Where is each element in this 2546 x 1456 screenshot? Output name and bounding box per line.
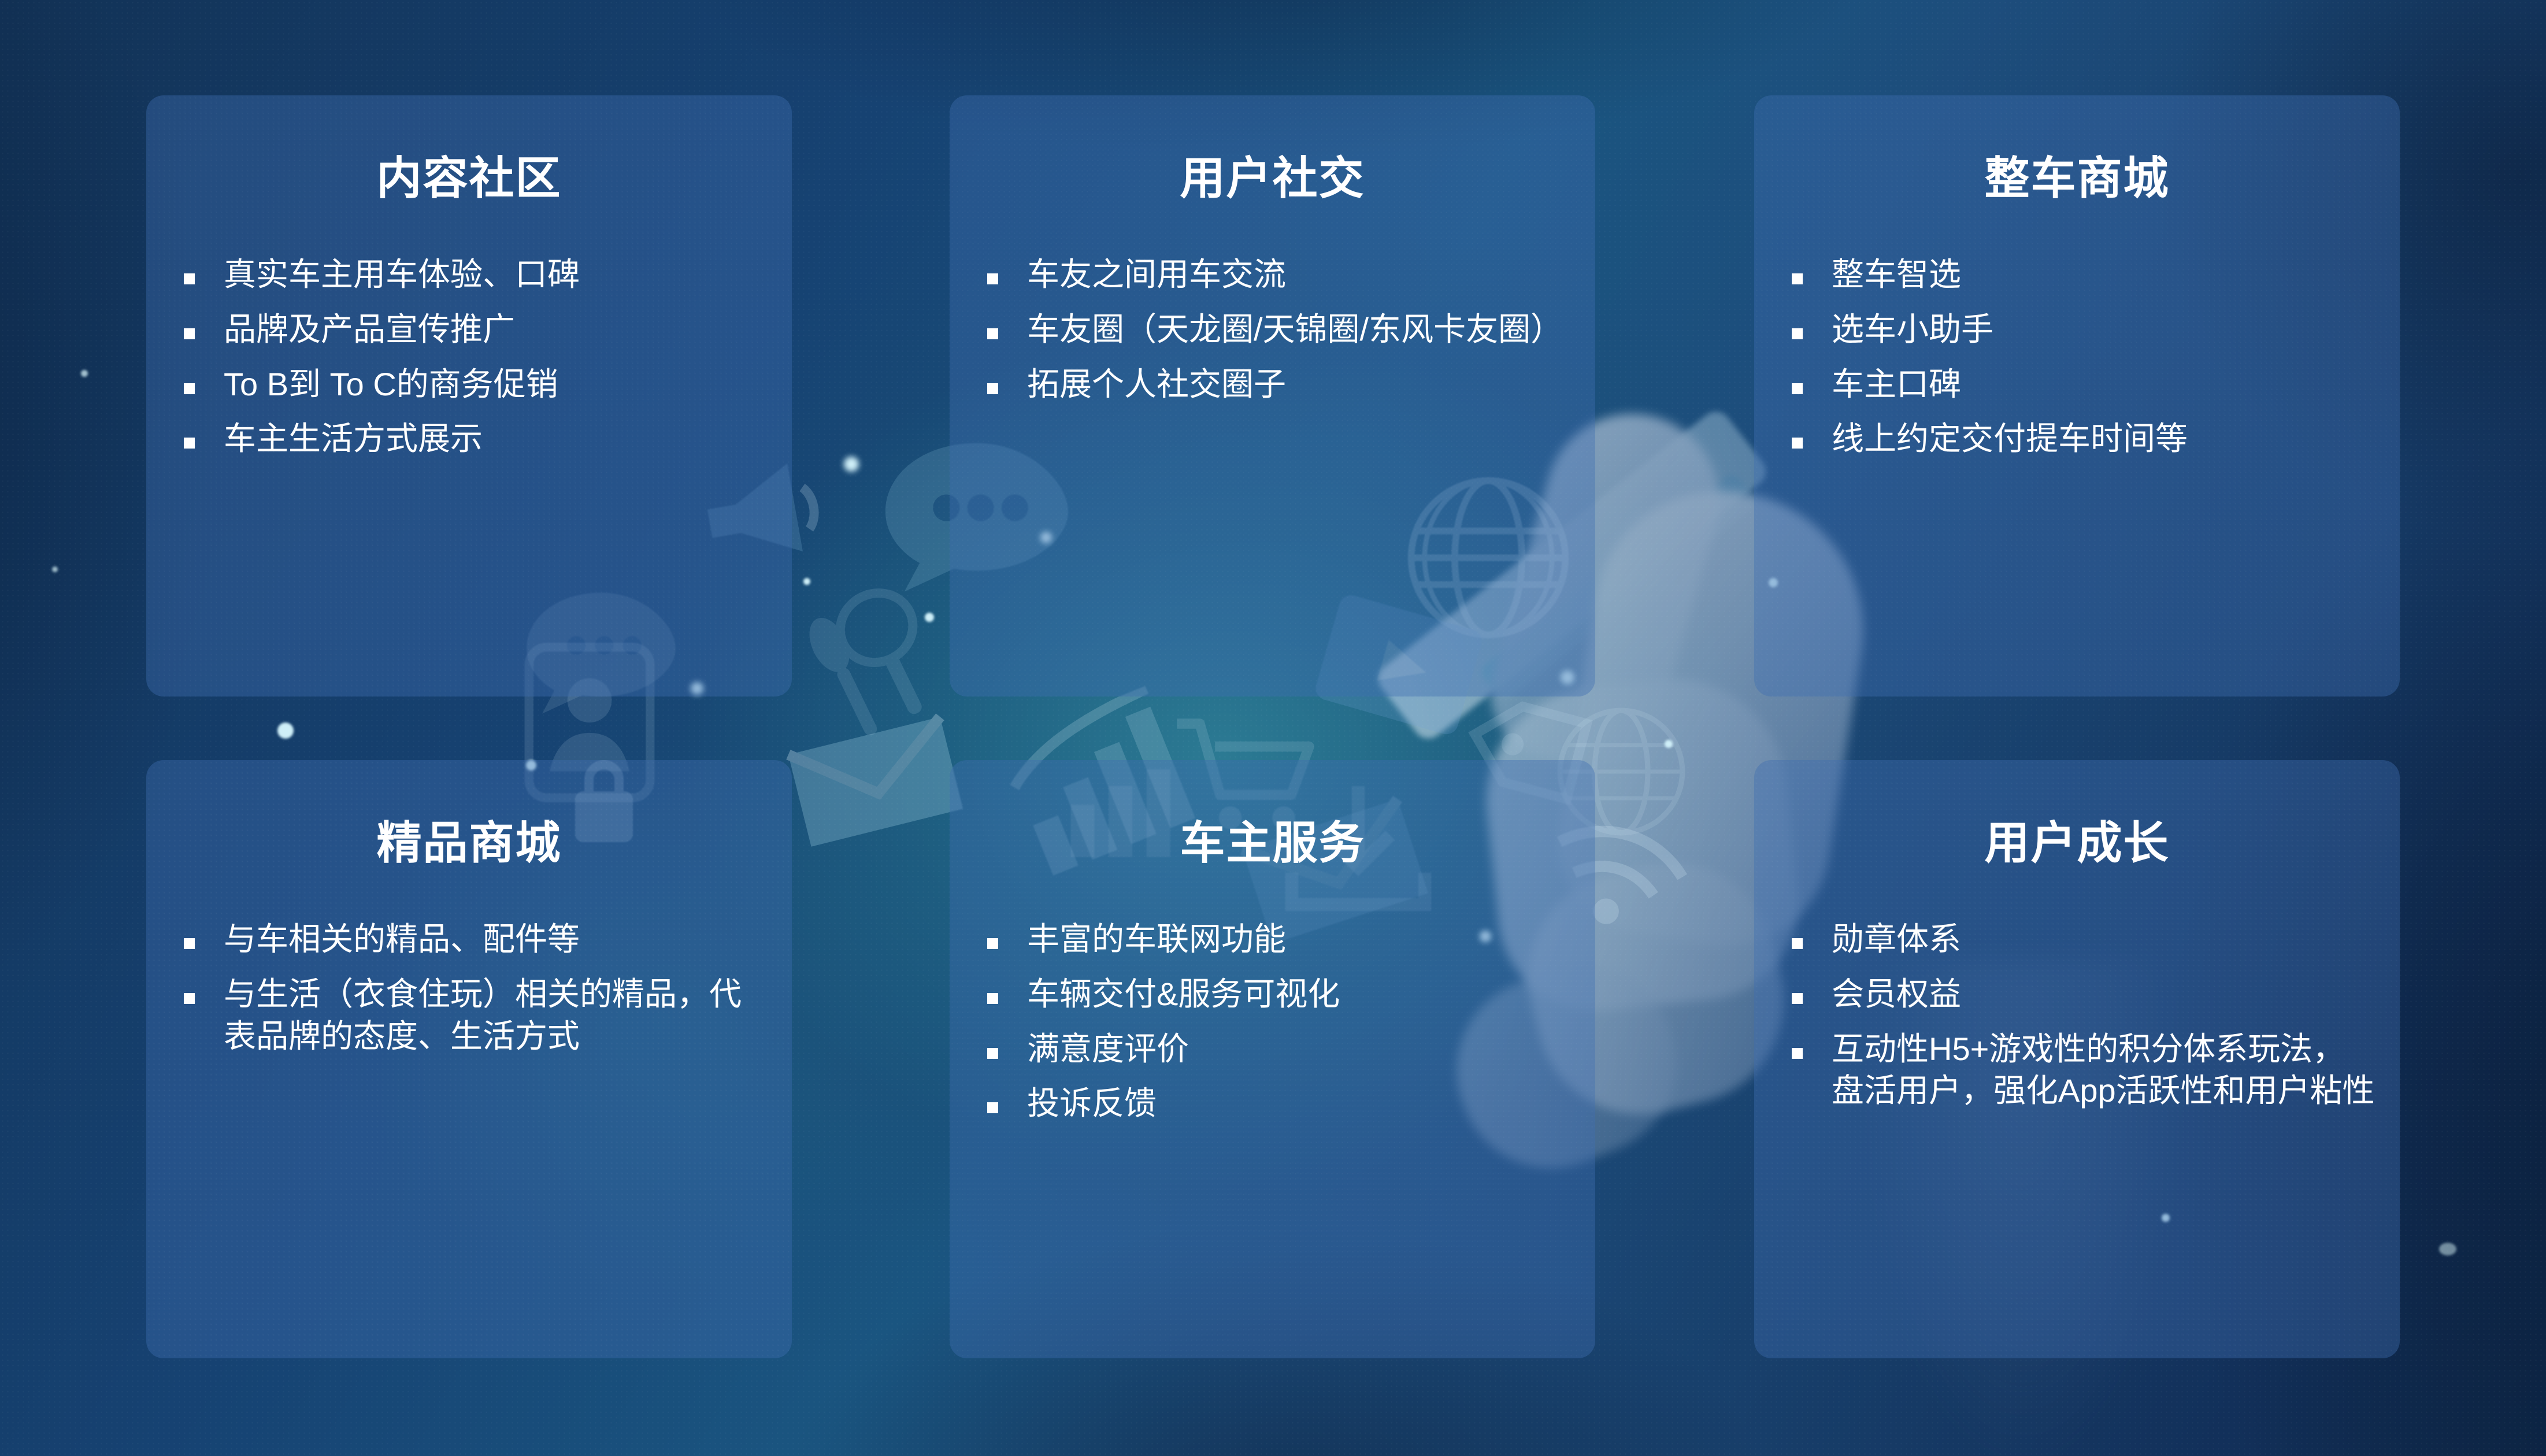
list-item-label: 车友圈（天龙圈/天锦圈/东风卡友圈） <box>1027 309 1571 351</box>
list-item-label: 品牌及产品宣传推广 <box>224 309 768 351</box>
list-item: 车友圈（天龙圈/天锦圈/东风卡友圈） <box>987 309 1571 351</box>
list-item-label: 互动性H5+游戏性的积分体系玩法，盘活用户，强化App活跃性和用户粘性 <box>1832 1028 2375 1113</box>
list-item-label: 线上约定交付提车时间等 <box>1832 418 2375 460</box>
list-item: 车友之间用车交流 <box>987 254 1571 296</box>
feature-card-content-community: 内容社区 真实车主用车体验、口碑 品牌及产品宣传推广 To B到 To C的商务… <box>146 95 792 696</box>
card-title: 车主服务 <box>950 820 1595 865</box>
square-bullet-icon <box>1792 383 1803 394</box>
list-item: 互动性H5+游戏性的积分体系玩法，盘活用户，强化App活跃性和用户粘性 <box>1792 1028 2375 1113</box>
list-item-label: 车辆交付&服务可视化 <box>1027 973 1571 1016</box>
square-bullet-icon <box>184 328 195 339</box>
square-bullet-icon <box>184 438 195 449</box>
square-bullet-icon <box>987 938 998 949</box>
feature-card-grid: 内容社区 真实车主用车体验、口碑 品牌及产品宣传推广 To B到 To C的商务… <box>0 0 2546 1456</box>
square-bullet-icon <box>1792 1048 1803 1059</box>
list-item-label: To B到 To C的商务促销 <box>224 364 768 406</box>
square-bullet-icon <box>184 938 195 949</box>
list-item-label: 与车相关的精品、配件等 <box>224 918 768 961</box>
list-item: 车主生活方式展示 <box>184 418 768 460</box>
list-item-label: 勋章体系 <box>1832 918 2375 961</box>
list-item: 勋章体系 <box>1792 918 2375 961</box>
square-bullet-icon <box>987 1048 998 1059</box>
square-bullet-icon <box>1792 328 1803 339</box>
square-bullet-icon <box>987 383 998 394</box>
card-title: 精品商城 <box>146 820 792 865</box>
card-title: 整车商城 <box>1754 155 2400 201</box>
list-item: 选车小助手 <box>1792 309 2375 351</box>
list-item: 整车智选 <box>1792 254 2375 296</box>
list-item: 投诉反馈 <box>987 1083 1571 1125</box>
card-bullet-list: 车友之间用车交流 车友圈（天龙圈/天锦圈/东风卡友圈） 拓展个人社交圈子 <box>950 254 1595 405</box>
list-item-label: 真实车主用车体验、口碑 <box>224 254 768 296</box>
list-item: 会员权益 <box>1792 973 2375 1016</box>
list-item: To B到 To C的商务促销 <box>184 364 768 406</box>
square-bullet-icon <box>987 328 998 339</box>
list-item-label: 与生活（衣食住玩）相关的精品，代表品牌的态度、生活方式 <box>224 973 768 1058</box>
card-bullet-list: 丰富的车联网功能 车辆交付&服务可视化 满意度评价 投诉反馈 <box>950 918 1595 1125</box>
list-item-label: 拓展个人社交圈子 <box>1027 364 1571 406</box>
square-bullet-icon <box>184 273 195 284</box>
square-bullet-icon <box>1792 273 1803 284</box>
list-item: 线上约定交付提车时间等 <box>1792 418 2375 460</box>
list-item-label: 车友之间用车交流 <box>1027 254 1571 296</box>
square-bullet-icon <box>987 273 998 284</box>
square-bullet-icon <box>1792 938 1803 949</box>
list-item-label: 会员权益 <box>1832 973 2375 1016</box>
list-item-label: 投诉反馈 <box>1027 1083 1571 1125</box>
list-item: 拓展个人社交圈子 <box>987 364 1571 406</box>
list-item-label: 满意度评价 <box>1027 1028 1571 1070</box>
list-item: 品牌及产品宣传推广 <box>184 309 768 351</box>
feature-card-vehicle-mall: 整车商城 整车智选 选车小助手 车主口碑 线上约定交付提车时间等 <box>1754 95 2400 696</box>
list-item-label: 车主生活方式展示 <box>224 418 768 460</box>
list-item: 真实车主用车体验、口碑 <box>184 254 768 296</box>
square-bullet-icon <box>184 993 195 1004</box>
list-item: 车辆交付&服务可视化 <box>987 973 1571 1016</box>
feature-card-owner-service: 车主服务 丰富的车联网功能 车辆交付&服务可视化 满意度评价 投诉反馈 <box>950 760 1595 1358</box>
square-bullet-icon <box>987 993 998 1004</box>
square-bullet-icon <box>987 1102 998 1113</box>
list-item: 丰富的车联网功能 <box>987 918 1571 961</box>
list-item: 与车相关的精品、配件等 <box>184 918 768 961</box>
feature-card-user-social: 用户社交 车友之间用车交流 车友圈（天龙圈/天锦圈/东风卡友圈） 拓展个人社交圈… <box>950 95 1595 696</box>
list-item: 满意度评价 <box>987 1028 1571 1070</box>
card-title: 用户社交 <box>950 155 1595 201</box>
list-item-label: 丰富的车联网功能 <box>1027 918 1571 961</box>
card-title: 内容社区 <box>146 155 792 201</box>
card-title: 用户成长 <box>1754 820 2400 865</box>
feature-card-user-growth: 用户成长 勋章体系 会员权益 互动性H5+游戏性的积分体系玩法，盘活用户，强化A… <box>1754 760 2400 1358</box>
list-item: 与生活（衣食住玩）相关的精品，代表品牌的态度、生活方式 <box>184 973 768 1058</box>
list-item: 车主口碑 <box>1792 364 2375 406</box>
list-item-label: 选车小助手 <box>1832 309 2375 351</box>
card-bullet-list: 真实车主用车体验、口碑 品牌及产品宣传推广 To B到 To C的商务促销 车主… <box>146 254 792 460</box>
square-bullet-icon <box>1792 993 1803 1004</box>
list-item-label: 整车智选 <box>1832 254 2375 296</box>
feature-card-boutique-mall: 精品商城 与车相关的精品、配件等 与生活（衣食住玩）相关的精品，代表品牌的态度、… <box>146 760 792 1358</box>
square-bullet-icon <box>184 383 195 394</box>
card-bullet-list: 整车智选 选车小助手 车主口碑 线上约定交付提车时间等 <box>1754 254 2400 460</box>
card-bullet-list: 与车相关的精品、配件等 与生活（衣食住玩）相关的精品，代表品牌的态度、生活方式 <box>146 918 792 1057</box>
square-bullet-icon <box>1792 438 1803 449</box>
card-bullet-list: 勋章体系 会员权益 互动性H5+游戏性的积分体系玩法，盘活用户，强化App活跃性… <box>1754 918 2400 1112</box>
list-item-label: 车主口碑 <box>1832 364 2375 406</box>
